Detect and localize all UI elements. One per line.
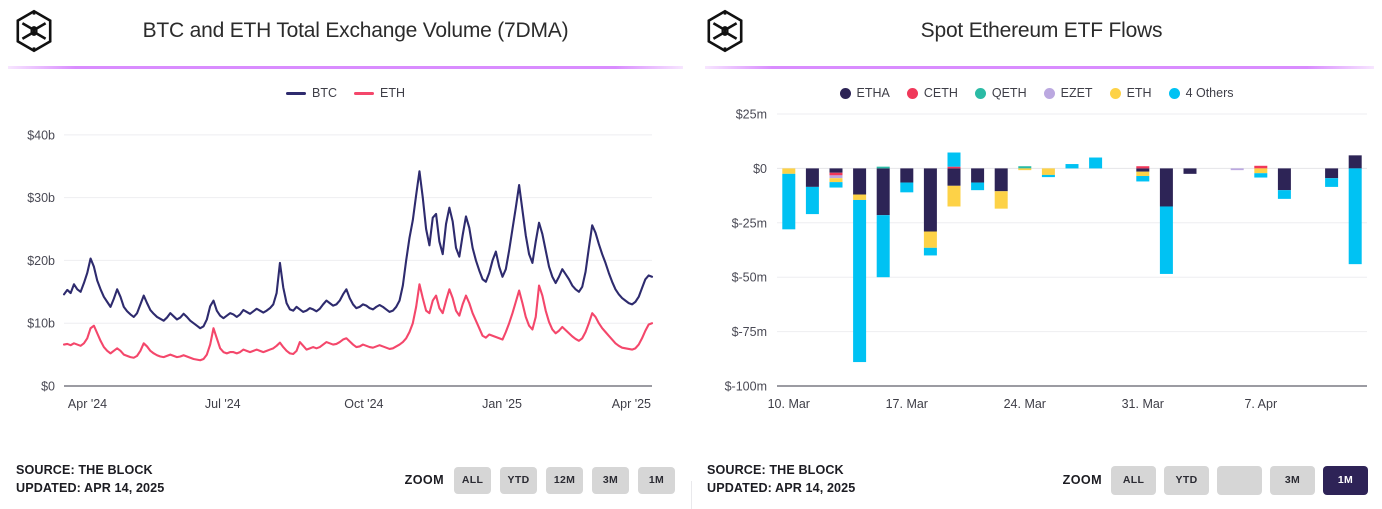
bar-segment-eth — [853, 195, 866, 200]
bar-segment-etha — [900, 168, 913, 182]
y-axis-tick-label: $-75m — [732, 325, 767, 339]
x-axis-tick-label: Apr '24 — [68, 397, 107, 411]
page-title: BTC and ETH Total Exchange Volume (7DMA) — [54, 19, 691, 43]
bar-segment-4-others — [1278, 190, 1291, 199]
bar-group[interactable] — [1136, 166, 1149, 181]
legend-label: 4 Others — [1186, 86, 1234, 100]
bar-segment-eth — [1254, 168, 1267, 173]
bar-group[interactable] — [1254, 166, 1267, 178]
updated-text: UPDATED: APR 14, 2025 — [16, 480, 164, 498]
bar-group[interactable] — [971, 168, 984, 190]
bar-group[interactable] — [1278, 168, 1291, 198]
source-block: SOURCE: THE BLOCK UPDATED: APR 14, 2025 — [0, 462, 164, 498]
legend-item-eth[interactable]: ETH — [1110, 86, 1152, 100]
bar-segment-qeth — [1018, 166, 1031, 168]
bar-segment-ezet — [830, 175, 843, 178]
legend-item-etha[interactable]: ETHA — [840, 86, 890, 100]
legend-label: BTC — [312, 86, 337, 100]
zoom-button-all[interactable]: ALL — [1111, 466, 1156, 495]
zoom-button-1m[interactable]: 1M — [1323, 466, 1368, 495]
legend-label: CETH — [924, 86, 958, 100]
x-axis-tick-label: 24. Mar — [1004, 397, 1046, 411]
y-axis-tick-label: $-50m — [732, 271, 767, 285]
x-axis-tick-label: 7. Apr — [1244, 397, 1277, 411]
bar-segment-eth — [948, 186, 961, 207]
y-axis-tick-label: $0 — [753, 162, 767, 176]
the-block-logo-icon — [705, 9, 745, 53]
bar-chart-svg: $25m$0$-25m$-50m$-75m$-100m10. Mar17. Ma… — [691, 102, 1382, 432]
legend-label: ETHA — [857, 86, 890, 100]
bar-segment-eth — [830, 178, 843, 182]
bar-segment-etha — [1278, 168, 1291, 190]
line-series-eth — [64, 284, 652, 360]
zoom-button-3m[interactable]: 3M — [1270, 466, 1315, 495]
bar-group[interactable] — [1089, 158, 1102, 169]
bar-segment-4-others — [853, 200, 866, 362]
bar-segment-etha — [995, 168, 1008, 191]
bar-group[interactable] — [1018, 166, 1031, 170]
legend-item-ceth[interactable]: CETH — [907, 86, 958, 100]
bar-segment-etha — [1160, 168, 1173, 206]
bar-group[interactable] — [1160, 168, 1173, 274]
bar-group[interactable] — [948, 153, 961, 207]
bar-segment-4-others — [877, 215, 890, 277]
bar-segment-4-others — [1160, 206, 1173, 273]
bar-group[interactable] — [830, 168, 843, 187]
panel-btc-eth-volume: BTC and ETH Total Exchange Volume (7DMA)… — [0, 0, 691, 509]
bar-segment-4-others — [1254, 173, 1267, 177]
y-axis-tick-label: $40b — [27, 128, 55, 142]
bar-segment-etha — [1136, 168, 1149, 171]
bar-segment-4-others — [971, 183, 984, 191]
bar-segment-4-others — [1089, 158, 1102, 169]
bar-segment-qeth — [877, 167, 890, 169]
updated-text: UPDATED: APR 14, 2025 — [707, 480, 855, 498]
zoom-button-3m[interactable]: 3M — [592, 467, 629, 494]
zoom-button-all[interactable]: ALL — [454, 467, 491, 494]
zoom-label: ZOOM — [1063, 473, 1102, 487]
x-axis-tick-label: 31. Mar — [1122, 397, 1164, 411]
bar-group[interactable] — [1325, 168, 1338, 186]
bar-segment-eth — [924, 232, 937, 248]
4-others-swatch-icon — [1169, 88, 1180, 99]
y-axis-tick-label: $0 — [41, 380, 55, 394]
y-axis-tick-label: $10b — [27, 317, 55, 331]
bar-group[interactable] — [853, 168, 866, 362]
bar-segment-ceth — [1136, 166, 1149, 168]
bar-segment-4-others — [1042, 175, 1055, 177]
bar-segment-etha — [806, 168, 819, 186]
legend-item-ezet[interactable]: EZET — [1044, 86, 1093, 100]
bar-segment-eth — [1042, 168, 1055, 175]
legend-item-qeth[interactable]: QETH — [975, 86, 1027, 100]
chart-pair-screenshot: BTC and ETH Total Exchange Volume (7DMA)… — [0, 0, 1382, 509]
bar-group[interactable] — [1349, 155, 1362, 264]
panel-footer: SOURCE: THE BLOCK UPDATED: APR 14, 2025 … — [0, 451, 691, 509]
x-axis-tick-label: Oct '24 — [344, 397, 383, 411]
legend-item-eth[interactable]: ETH — [354, 86, 405, 100]
y-axis-tick-label: $30b — [27, 191, 55, 205]
bar-segment-etha — [877, 168, 890, 215]
bar-segment-4-others — [1325, 178, 1338, 187]
bar-segment-ceth — [1254, 166, 1267, 169]
bar-group[interactable] — [924, 168, 937, 255]
y-axis-tick-label: $-25m — [732, 216, 767, 230]
bar-group[interactable] — [995, 168, 1008, 208]
bar-group[interactable] — [1231, 168, 1244, 170]
x-axis-tick-label: 10. Mar — [768, 397, 810, 411]
source-text: SOURCE: THE BLOCK — [16, 462, 164, 480]
legend-item-4-others[interactable]: 4 Others — [1169, 86, 1234, 100]
zoom-button-ytd[interactable]: YTD — [500, 467, 537, 494]
zoom-controls: ZOOM ALL YTD 12M 3M 1M — [405, 467, 691, 494]
ezet-swatch-icon — [1044, 88, 1055, 99]
zoom-button-blank[interactable] — [1217, 466, 1262, 495]
x-axis-tick-label: Jul '24 — [205, 397, 241, 411]
bar-segment-4-others — [806, 187, 819, 214]
bar-segment-4-others — [782, 174, 795, 229]
eth-swatch-icon — [354, 92, 374, 95]
bar-segment-ezet — [1231, 168, 1244, 170]
line-chart-svg: $0$10b$20b$30b$40bApr '24Jul '24Oct '24J… — [0, 102, 691, 432]
source-text: SOURCE: THE BLOCK — [707, 462, 855, 480]
bar-group[interactable] — [782, 168, 795, 229]
zoom-label: ZOOM — [405, 473, 444, 487]
btc-swatch-icon — [286, 92, 306, 95]
line-chart-plot[interactable]: $0$10b$20b$30b$40bApr '24Jul '24Oct '24J… — [0, 102, 691, 432]
zoom-button-ytd[interactable]: YTD — [1164, 466, 1209, 495]
zoom-button-12m[interactable]: 12M — [546, 467, 583, 494]
bar-segment-ceth — [948, 167, 961, 169]
bar-segment-4-others — [900, 183, 913, 193]
legend-label: ETH — [380, 86, 405, 100]
zoom-button-1m[interactable]: 1M — [638, 467, 675, 494]
bar-group[interactable] — [900, 168, 913, 192]
bar-segment-4-others — [830, 182, 843, 187]
bar-segment-eth — [782, 168, 795, 173]
panel-header: Spot Ethereum ETF Flows — [691, 0, 1382, 62]
page-title: Spot Ethereum ETF Flows — [745, 19, 1382, 43]
bar-chart-plot[interactable]: $25m$0$-25m$-50m$-75m$-100m10. Mar17. Ma… — [691, 102, 1382, 432]
accent-divider — [8, 66, 683, 69]
y-axis-tick-label: $25m — [736, 108, 767, 122]
bar-segment-etha — [948, 168, 961, 185]
bar-segment-4-others — [924, 248, 937, 256]
bar-group[interactable] — [1184, 168, 1197, 173]
bar-segment-4-others — [1136, 176, 1149, 181]
bar-segment-4-others — [1349, 168, 1362, 264]
bar-segment-eth — [1018, 168, 1031, 170]
bar-segment-4-others — [948, 153, 961, 167]
the-block-logo-icon — [14, 9, 54, 53]
bar-segment-etha — [971, 168, 984, 182]
y-axis-tick-label: $20b — [27, 254, 55, 268]
bar-segment-etha — [1349, 155, 1362, 168]
bar-group[interactable] — [1066, 164, 1079, 168]
x-axis-tick-label: 17. Mar — [886, 397, 928, 411]
bar-group[interactable] — [877, 167, 890, 278]
bar-segment-etha — [924, 168, 937, 231]
bar-group[interactable] — [806, 168, 819, 214]
qeth-swatch-icon — [975, 88, 986, 99]
accent-divider — [705, 66, 1374, 69]
bar-segment-etha — [830, 168, 843, 172]
legend-label: QETH — [992, 86, 1027, 100]
zoom-controls: ZOOM ALL YTD 3M 1M — [1063, 466, 1382, 495]
chart-legend: BTC ETH — [0, 84, 691, 102]
footer-separator — [691, 481, 692, 509]
bar-segment-etha — [853, 168, 866, 194]
panel-header: BTC and ETH Total Exchange Volume (7DMA) — [0, 0, 691, 62]
bar-segment-ceth — [830, 173, 843, 176]
etha-swatch-icon — [840, 88, 851, 99]
bar-segment-eth — [995, 191, 1008, 208]
bar-segment-4-others — [1066, 164, 1079, 168]
panel-spot-eth-etf-flows: Spot Ethereum ETF Flows ETHACETHQETHEZET… — [691, 0, 1382, 509]
panel-footer: SOURCE: THE BLOCK UPDATED: APR 14, 2025 … — [691, 451, 1382, 509]
x-axis-tick-label: Apr '25 — [612, 397, 651, 411]
eth-swatch-icon — [1110, 88, 1121, 99]
y-axis-tick-label: $-100m — [725, 380, 767, 394]
source-block: SOURCE: THE BLOCK UPDATED: APR 14, 2025 — [691, 462, 855, 498]
bar-segment-etha — [1325, 168, 1338, 178]
ceth-swatch-icon — [907, 88, 918, 99]
bar-segment-etha — [1184, 168, 1197, 173]
legend-label: ETH — [1127, 86, 1152, 100]
bar-group[interactable] — [1042, 168, 1055, 177]
legend-label: EZET — [1061, 86, 1093, 100]
legend-item-btc[interactable]: BTC — [286, 86, 337, 100]
chart-legend: ETHACETHQETHEZETETH4 Others — [691, 84, 1382, 102]
x-axis-tick-label: Jan '25 — [482, 397, 522, 411]
line-series-btc — [64, 171, 652, 328]
bar-segment-eth — [1136, 172, 1149, 176]
